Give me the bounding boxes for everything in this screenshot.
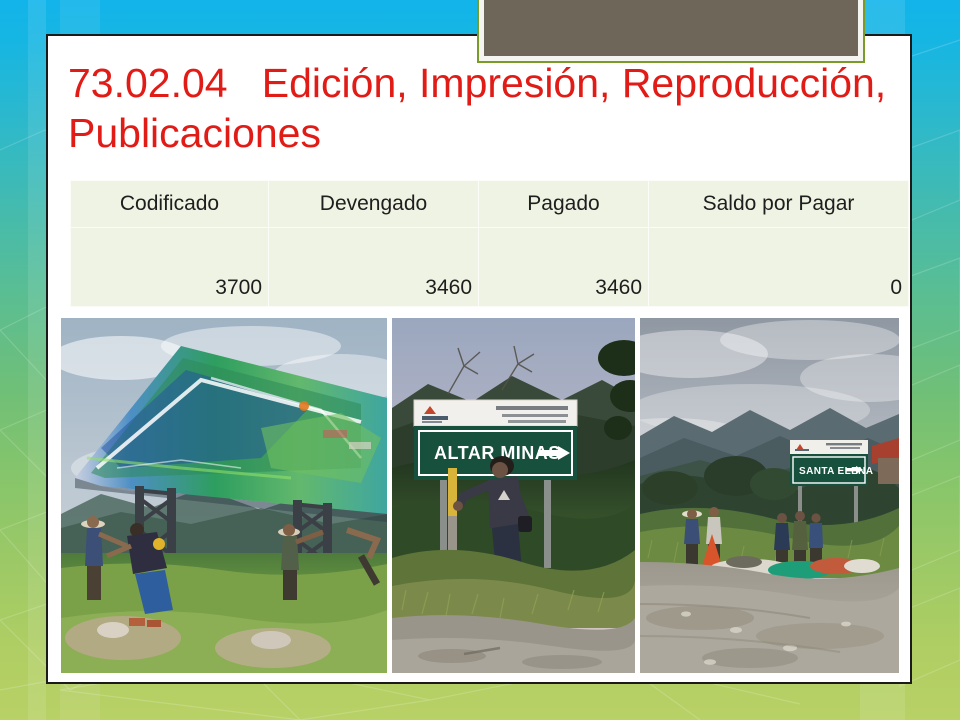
- budget-table: Codificado Devengado Pagado Saldo por Pa…: [70, 180, 908, 307]
- cell-saldo-por-pagar: 0: [649, 228, 909, 307]
- page-title: 73.02.04 Edición, Impresión, Reproducció…: [68, 58, 898, 158]
- photo-billboard-installation: [61, 318, 387, 673]
- cell-codificado: 3700: [71, 228, 269, 307]
- column-header-pagado: Pagado: [479, 181, 649, 228]
- svg-text:SANTA ELENA: SANTA ELENA: [799, 466, 873, 477]
- placeholder-fill: [484, 0, 858, 56]
- table-header-row: Codificado Devengado Pagado Saldo por Pa…: [71, 181, 909, 228]
- cell-devengado: 3460: [269, 228, 479, 307]
- slide-canvas: 73.02.04 Edición, Impresión, Reproducció…: [0, 0, 960, 720]
- empty-content-placeholder[interactable]: [477, 0, 865, 63]
- photo-sign-altar-minas: ALTAR MINAS: [392, 318, 635, 673]
- photo-sign-santa-elena: SANTA ELENA: [640, 318, 899, 673]
- table-row: 3700 3460 3460 0: [71, 228, 909, 307]
- column-header-saldo-por-pagar: Saldo por Pagar: [649, 181, 909, 228]
- column-header-devengado: Devengado: [269, 181, 479, 228]
- photo-strip: ALTAR MINAS: [61, 318, 899, 673]
- column-header-codificado: Codificado: [71, 181, 269, 228]
- cell-pagado: 3460: [479, 228, 649, 307]
